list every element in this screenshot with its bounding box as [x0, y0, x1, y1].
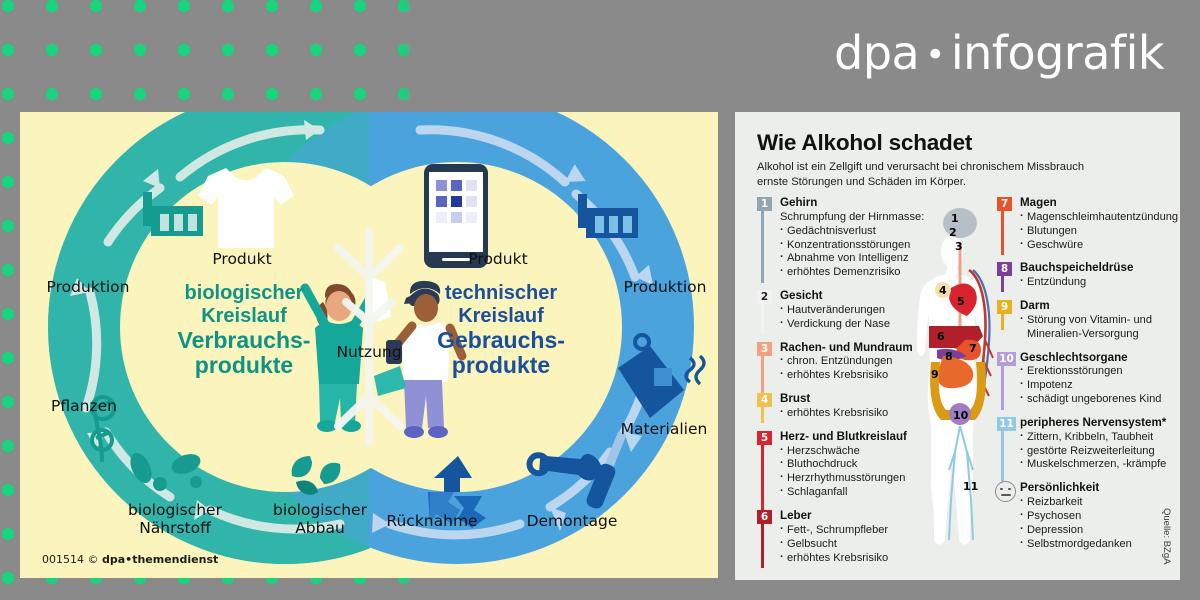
- page-title: Wie Alkohol schadet: [757, 130, 972, 156]
- body-marker-6: 6: [937, 330, 945, 343]
- organ-item-pers-nlichkeit[interactable]: PersönlichkeitReizbarkeitPsychosenDepres…: [997, 481, 1180, 551]
- organ-heading: Bauchspeicheldrüse: [1020, 261, 1180, 275]
- list-item: Muskelschmerzen, -krämpfe: [1020, 458, 1180, 472]
- label-produkt-tech: Produkt: [468, 250, 527, 268]
- technical-core-text: technischer Kreislauf Gebrauchs- produkt…: [437, 282, 565, 379]
- biological-core-text: biologischer Kreislauf Verbrauchs- produ…: [178, 282, 311, 379]
- organ-heading: Geschlechtsorgane: [1020, 351, 1180, 365]
- organ-item-geschlechtsorgane[interactable]: 10GeschlechtsorganeErektionsstörungenImp…: [997, 351, 1180, 407]
- label-materialien: Materialien: [621, 420, 708, 438]
- organ-symptom-list: ReizbarkeitPsychosenDepressionSelbstmord…: [1020, 496, 1180, 552]
- circular-economy-panel: Produktion Produkt Pflanzen biologischer…: [20, 112, 718, 578]
- list-item: Störung von Vitamin- und Mineralien-Vers…: [1020, 314, 1180, 342]
- body-marker-7: 7: [969, 342, 977, 355]
- organ-symptom-list: ErektionsstörungenImpotenzschädigt ungeb…: [1020, 365, 1180, 407]
- label-pflanzen: Pflanzen: [51, 397, 117, 415]
- list-item: Psychosen: [1020, 510, 1180, 524]
- panel-subtitle: Alkohol ist ein Zellgift und verursacht …: [757, 160, 1117, 190]
- organ-stem-5: [761, 445, 764, 517]
- label-biologischer-naehrstoff: biologischer Nährstoff: [128, 502, 222, 538]
- list-item: Reizbarkeit: [1020, 496, 1180, 510]
- organ-heading: peripheres Nervensystem*: [1020, 416, 1180, 430]
- organ-item-darm[interactable]: 9DarmStörung von Vitamin- und Mineralien…: [997, 299, 1180, 342]
- list-item: Zittern, Kribbeln, Taubheit: [1020, 431, 1180, 445]
- organ-symptom-list: Zittern, Kribbeln, Taubheitgestörte Reiz…: [1020, 431, 1180, 473]
- label-produkt-bio: Produkt: [212, 250, 271, 268]
- organ-heading: Darm: [1020, 299, 1180, 313]
- source-label: Quelle: BZgA: [1161, 508, 1172, 565]
- body-marker-4: 4: [939, 284, 947, 297]
- dpa-infografik-logo: dpa•infografik: [834, 26, 1164, 80]
- label-nutzung: Nutzung: [336, 343, 401, 361]
- organ-stem-4: [761, 407, 764, 423]
- body-marker-8: 8: [945, 350, 953, 363]
- list-item: gestörte Reizweiterleitung: [1020, 445, 1180, 459]
- organ-stem-6: [761, 524, 764, 568]
- human-body-figure: 1 2 3 4 5 6 7 8 9 10 11: [905, 200, 1015, 580]
- organ-item-gehirn[interactable]: 1GehirnSchrumpfung der Hirnmasse:Gedächt…: [757, 196, 927, 280]
- organ-item-brust[interactable]: 4Brusterhöhtes Krebsrisiko: [757, 392, 927, 421]
- organ-stem-2: [761, 304, 764, 334]
- alcohol-harm-panel: Wie Alkohol schadet Alkohol ist ein Zell…: [735, 112, 1180, 580]
- body-marker-5: 5: [957, 295, 965, 308]
- organ-item-gesicht[interactable]: 2GesichtHautveränderungenVerdickung der …: [757, 289, 927, 332]
- list-item: Blutungen: [1020, 225, 1180, 239]
- organ-item-herz-und-blutkreislauf[interactable]: 5Herz- und BlutkreislaufHerzschwächeBlut…: [757, 430, 927, 500]
- organ-list-right: 7MagenMagenschleimhautentzündungBlutunge…: [997, 196, 1180, 561]
- list-item: schädigt ungeborenes Kind: [1020, 393, 1180, 407]
- organ-item-peripheres-nervensystem[interactable]: 11peripheres Nervensystem*Zittern, Kribb…: [997, 416, 1180, 472]
- list-item: Depression: [1020, 524, 1180, 538]
- body-marker-11: 11: [963, 480, 978, 493]
- list-item: Erektionsstörungen: [1020, 365, 1180, 379]
- list-item: Magenschleimhautentzündung: [1020, 211, 1180, 225]
- organ-badge-2: 2: [757, 290, 772, 304]
- label-produktion-tech: Produktion: [624, 278, 707, 296]
- list-item: Selbstmordgedanken: [1020, 538, 1180, 552]
- organ-list-left: 1GehirnSchrumpfung der Hirnmasse:Gedächt…: [757, 196, 927, 575]
- organ-item-rachen-und-mundraum[interactable]: 3Rachen- und Mundraumchron. Entzündungen…: [757, 341, 927, 384]
- body-marker-1: 1: [951, 212, 959, 225]
- organ-item-magen[interactable]: 7MagenMagenschleimhautentzündungBlutunge…: [997, 196, 1180, 252]
- organ-symptom-list: Entzündung: [1020, 276, 1180, 290]
- organ-badge-5: 5: [757, 431, 772, 445]
- organ-badge-4: 4: [757, 393, 772, 407]
- organ-heading: Magen: [1020, 196, 1180, 210]
- body-marker-9: 9: [931, 368, 939, 381]
- body-marker-10: 10: [953, 409, 969, 422]
- organ-badge-1: 1: [757, 197, 772, 211]
- body-marker-2: 2: [949, 226, 957, 239]
- label-ruecknahme: Rücknahme: [386, 512, 477, 530]
- infographic-root: dpa•infografik: [0, 0, 1200, 600]
- label-biologischer-abbau: biologischer Abbau: [273, 502, 367, 538]
- brand-suffix: infografik: [951, 26, 1164, 80]
- organ-heading: Persönlichkeit: [1020, 481, 1180, 495]
- list-item: Impotenz: [1020, 379, 1180, 393]
- label-demontage: Demontage: [527, 512, 618, 530]
- brand-name: dpa: [834, 26, 919, 80]
- dpa-themendienst-credit: 001514 © dpa•themendienst: [42, 553, 218, 566]
- organ-item-leber[interactable]: 6LeberFett-, SchrumpfleberGelbsuchterhöh…: [757, 509, 927, 565]
- body-marker-3: 3: [955, 240, 963, 253]
- brand-separator-dot: •: [925, 35, 945, 75]
- organ-symptom-list: Störung von Vitamin- und Mineralien-Vers…: [1020, 314, 1180, 342]
- organ-item-bauchspeicheldr-se[interactable]: 8BauchspeicheldrüseEntzündung: [997, 261, 1180, 290]
- list-item: Entzündung: [1020, 276, 1180, 290]
- organ-symptom-list: MagenschleimhautentzündungBlutungenGesch…: [1020, 211, 1180, 253]
- organ-stem-1: [761, 211, 764, 283]
- list-item: Geschwüre: [1020, 239, 1180, 253]
- organ-badge-6: 6: [757, 510, 772, 524]
- label-produktion-bio: Produktion: [47, 278, 130, 296]
- organ-badge-3: 3: [757, 342, 772, 356]
